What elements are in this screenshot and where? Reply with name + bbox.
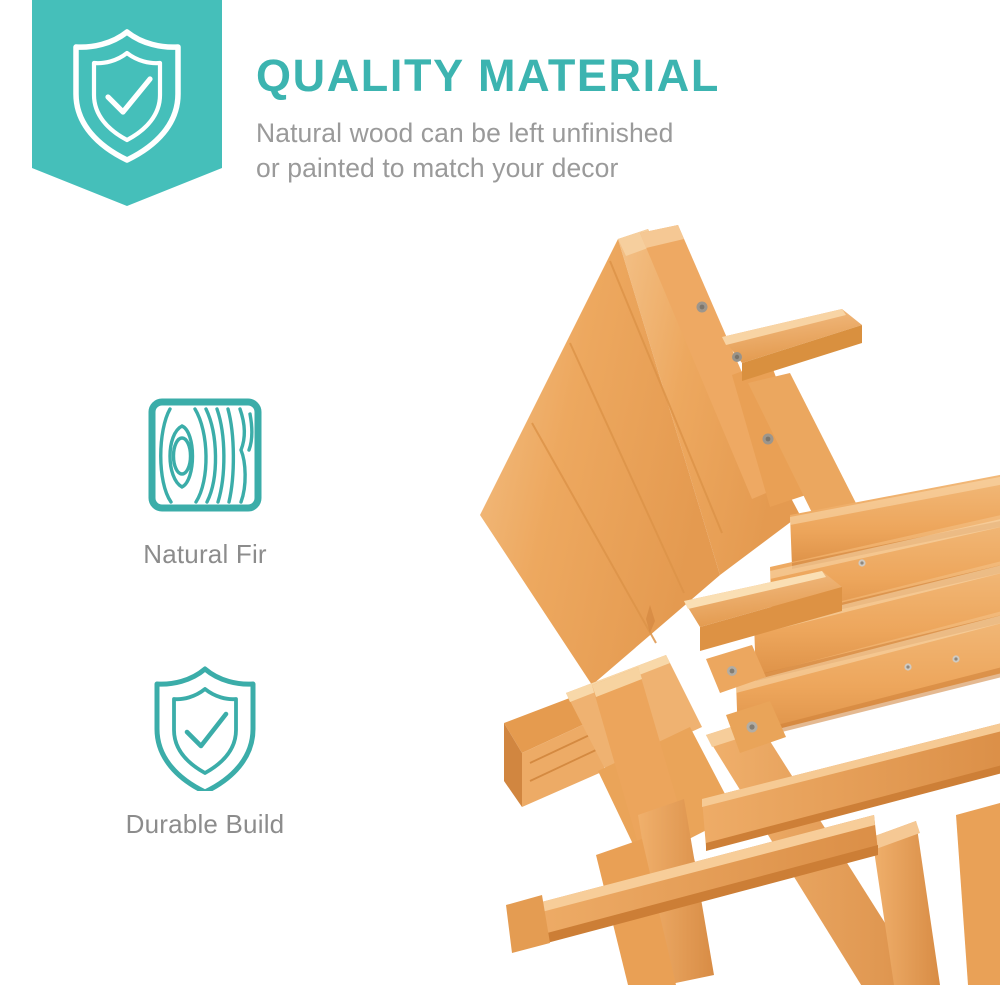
- shield-check-icon: [55, 655, 355, 795]
- page-title: QUALITY MATERIAL: [256, 52, 836, 99]
- product-photo-bench: [470, 215, 1000, 985]
- subtitle-line-2: or painted to match your decor: [256, 151, 836, 186]
- page-subtitle: Natural wood can be left unfinished or p…: [256, 116, 836, 186]
- quality-banner-ribbon: [32, 0, 222, 206]
- feature-label: Natural Fir: [55, 539, 355, 570]
- quality-material-infographic: QUALITY MATERIAL Natural wood can be lef…: [0, 0, 1000, 1000]
- subtitle-line-1: Natural wood can be left unfinished: [256, 116, 836, 151]
- wood-grain-lines: [161, 409, 252, 502]
- feature-natural-fir: Natural Fir: [55, 385, 355, 570]
- feature-label: Durable Build: [55, 809, 355, 840]
- feature-durable-build: Durable Build: [55, 655, 355, 840]
- wood-grain-icon: [55, 385, 355, 525]
- header-block: QUALITY MATERIAL Natural wood can be lef…: [256, 52, 836, 187]
